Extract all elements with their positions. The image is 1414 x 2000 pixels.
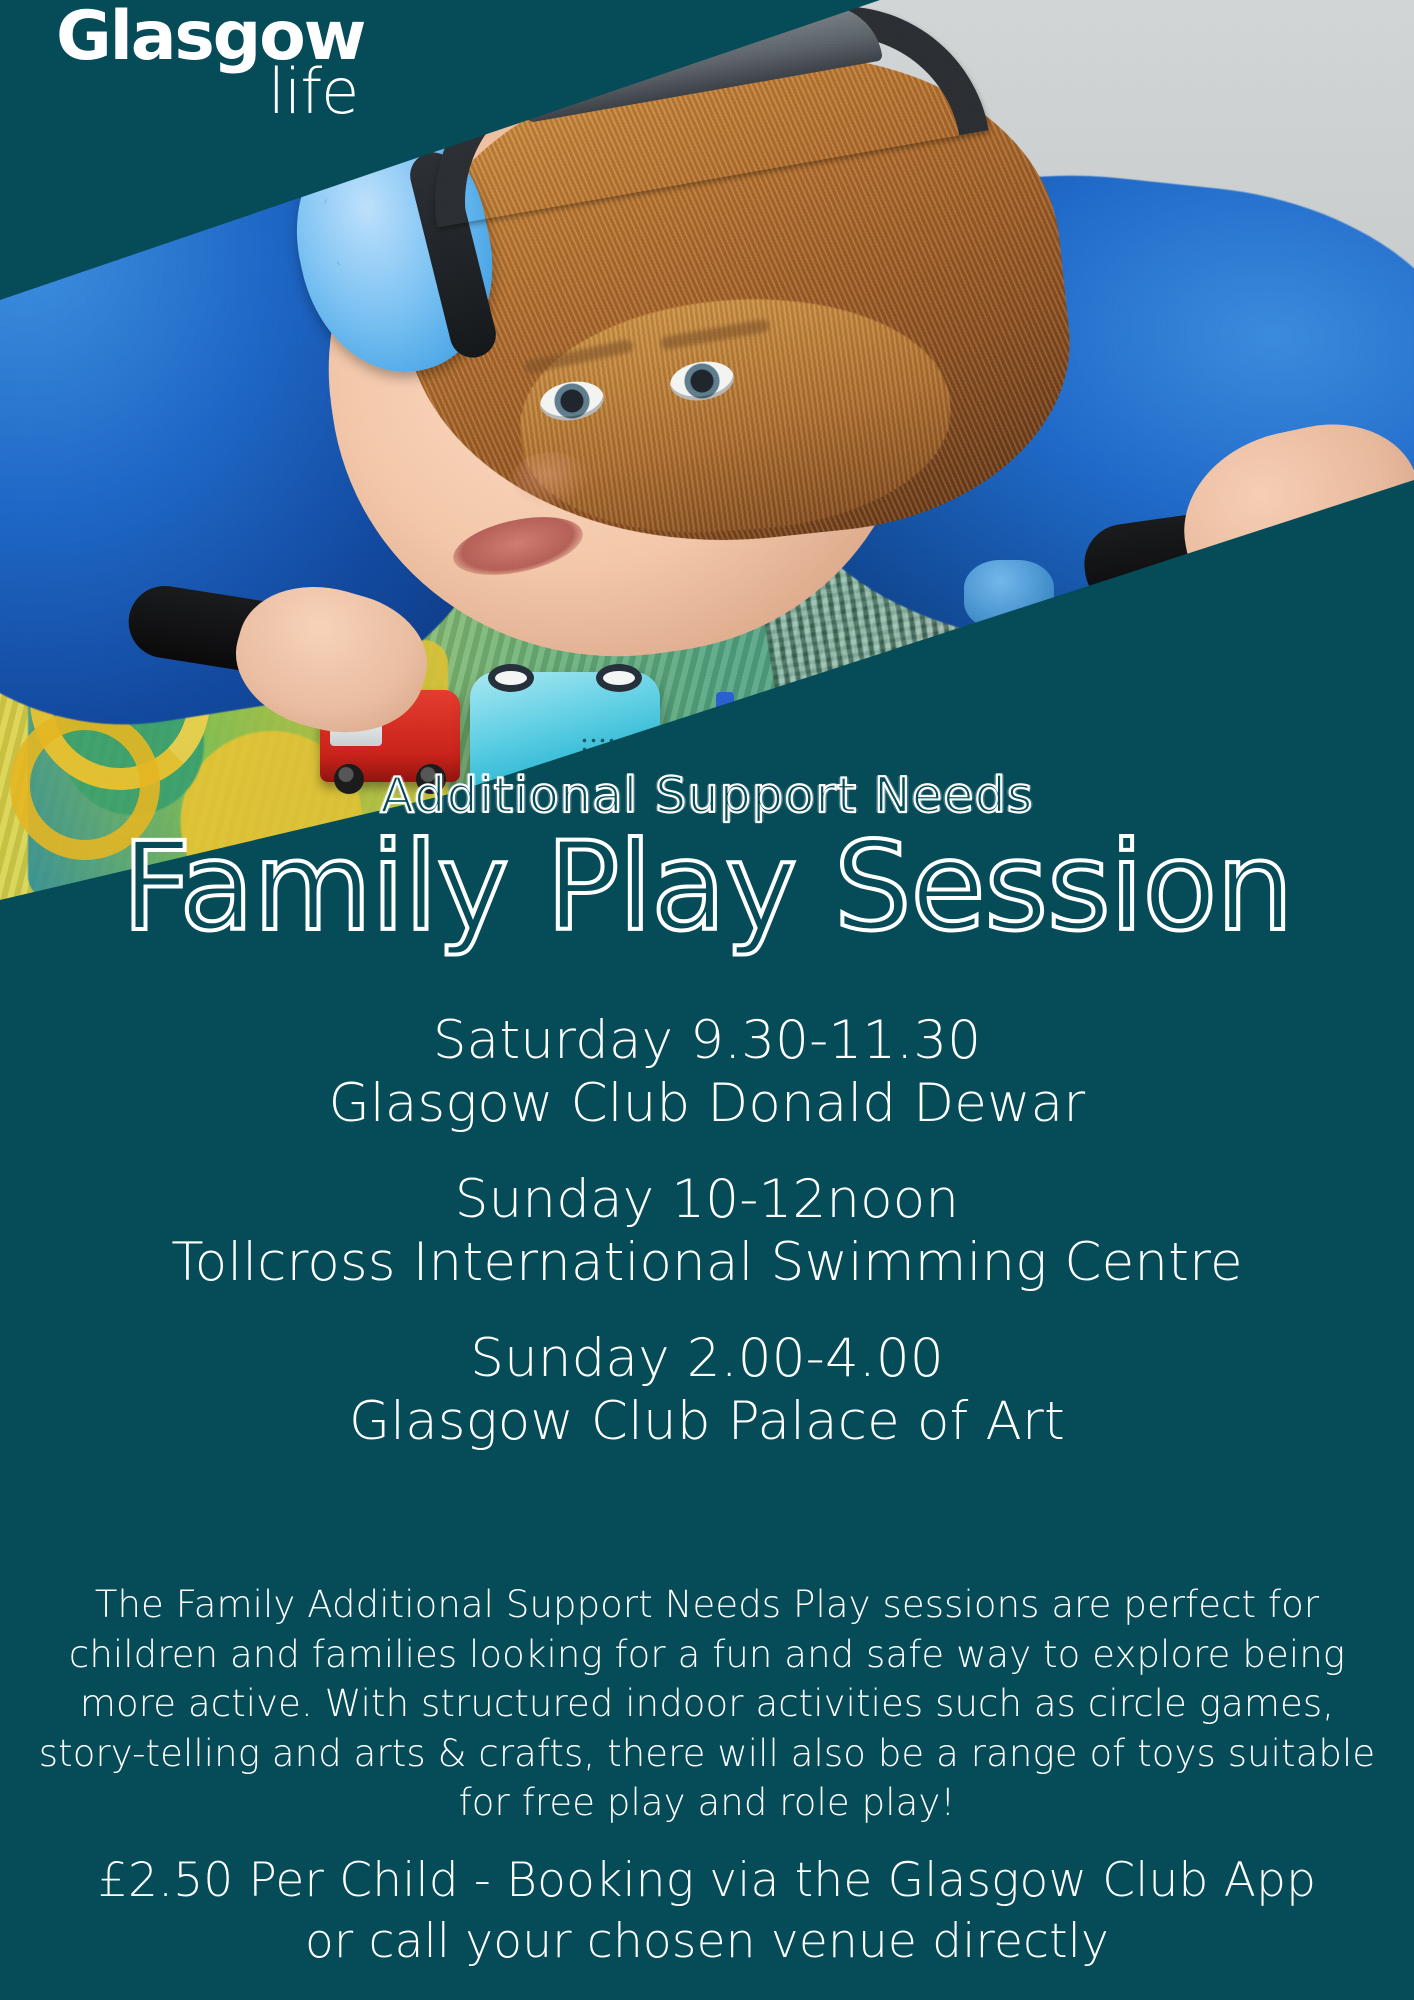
session-venue: Glasgow Club Palace of Art (0, 1391, 1414, 1454)
session-item: Sunday 10-12noon Tollcross International… (0, 1169, 1414, 1294)
glasgow-life-logo: Glasgow life (56, 6, 364, 120)
poster-root: Glasgow life Additional Support Needs Fa… (0, 0, 1414, 2000)
session-venue: Tollcross International Swimming Centre (0, 1232, 1414, 1295)
toy-eye-left (488, 664, 534, 692)
headline-block: Additional Support Needs Family Play Ses… (0, 770, 1414, 951)
session-list: Saturday 9.30-11.30 Glasgow Club Donald … (0, 1010, 1414, 1453)
eyebrow-text: Additional Support Needs (0, 770, 1414, 821)
session-time: Sunday 2.00-4.00 (0, 1328, 1414, 1391)
session-time: Sunday 10-12noon (0, 1169, 1414, 1232)
toy-eye-right (596, 664, 642, 692)
booking-price-line: £2.50 Per Child - Booking via the Glasgo… (0, 1850, 1414, 1911)
session-item: Saturday 9.30-11.30 Glasgow Club Donald … (0, 1010, 1414, 1135)
session-item: Sunday 2.00-4.00 Glasgow Club Palace of … (0, 1328, 1414, 1453)
page-title: Family Play Session (0, 825, 1414, 951)
session-time: Saturday 9.30-11.30 (0, 1010, 1414, 1073)
session-venue: Glasgow Club Donald Dewar (0, 1073, 1414, 1136)
description-paragraph: The Family Additional Support Needs Play… (36, 1580, 1378, 1828)
booking-info: £2.50 Per Child - Booking via the Glasgo… (0, 1850, 1414, 1972)
booking-phone-line: or call your chosen venue directly (0, 1911, 1414, 1972)
child-nose (512, 452, 590, 508)
